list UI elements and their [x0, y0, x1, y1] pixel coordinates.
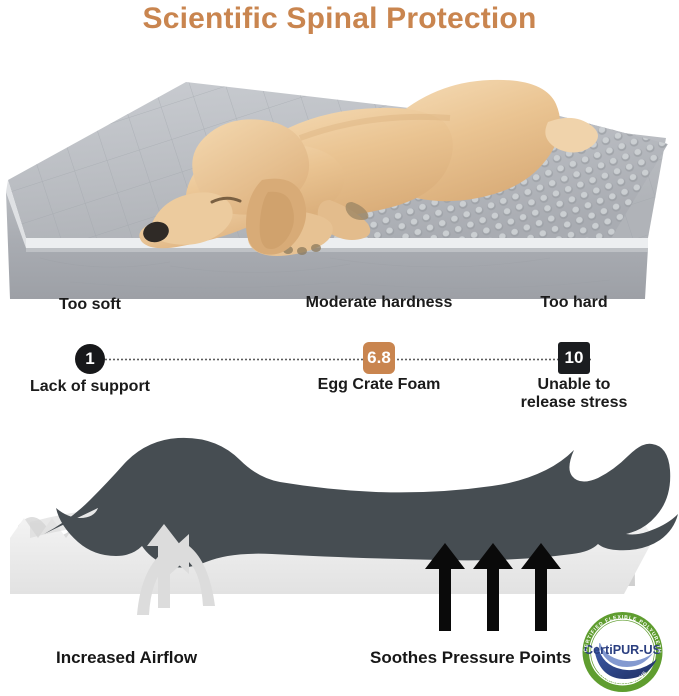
- bed-piping: [26, 238, 648, 248]
- scale-badge-6-8: 6.8: [363, 342, 395, 374]
- caption-increased-airflow: Increased Airflow: [56, 648, 197, 668]
- hero-product-photo: [0, 52, 679, 307]
- scale-caption-moderate-hardness: Moderate hardness: [306, 294, 453, 312]
- scale-sub-egg-crate-foam: Egg Crate Foam: [318, 376, 441, 394]
- caption-soothes-pressure-points: Soothes Pressure Points: [370, 648, 571, 668]
- diagram-svg: [0, 426, 679, 631]
- scale-badge-10: 10: [558, 342, 590, 374]
- certipur-seal: CertiPUR-US CONTAINS CERTIFIED FLEXIBLE …: [577, 609, 673, 695]
- scale-caption-too-soft: Too soft: [59, 296, 121, 314]
- certipur-us-badge: CertiPUR-US CONTAINS CERTIFIED FLEXIBLE …: [577, 609, 673, 695]
- scale-dotted-line: [88, 358, 592, 361]
- certipur-wordmark: CertiPUR-US: [584, 643, 661, 657]
- scale-sub-unable-to-release-stress: Unable to release stress: [521, 376, 628, 412]
- scale-sub-line1: Unable to: [538, 376, 611, 393]
- scale-caption-too-hard: Too hard: [540, 294, 607, 312]
- foam-pressure-diagram: [0, 426, 679, 631]
- product-infographic: Scientific Spinal Protection: [0, 0, 679, 696]
- hardness-scale: Too soft 1 Lack of support Moderate hard…: [0, 312, 679, 422]
- scale-badge-1: 1: [75, 344, 105, 374]
- scale-sub-line2: release stress: [521, 394, 628, 411]
- page-title: Scientific Spinal Protection: [0, 2, 679, 36]
- dog-lying-silhouette: [44, 438, 678, 568]
- dog-bed-illustration: [0, 52, 679, 307]
- scale-sub-lack-of-support: Lack of support: [30, 378, 150, 396]
- pressure-arrows: [425, 543, 561, 631]
